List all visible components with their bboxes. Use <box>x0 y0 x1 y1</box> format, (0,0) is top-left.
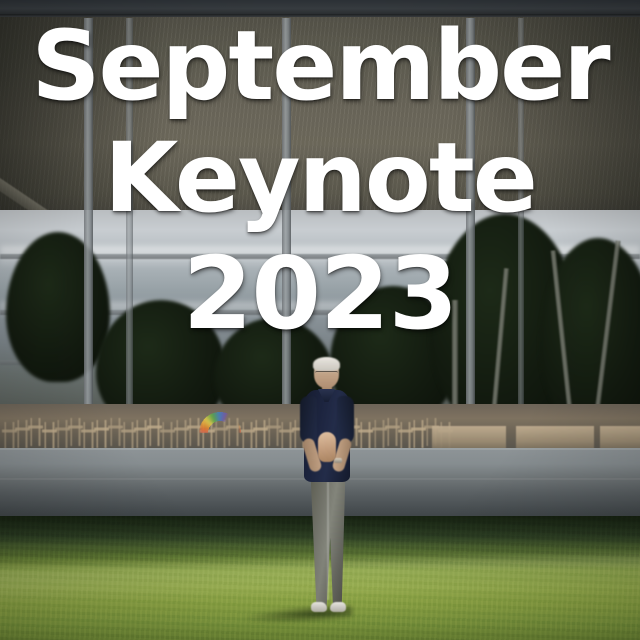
presenter-clasped-hands <box>318 432 336 462</box>
keynote-thumbnail: September Keynote 2023 <box>0 0 640 640</box>
presenter-hair <box>313 357 340 371</box>
presenter-shoe-left <box>311 602 327 612</box>
soffit-shadow-right <box>448 17 640 222</box>
facade-column <box>126 18 133 438</box>
facade-column <box>518 18 524 438</box>
ceiling-soffit <box>0 17 640 222</box>
presenter-watch <box>334 458 342 463</box>
presenter-figure <box>294 358 360 620</box>
presenter-sleeve-right <box>337 396 354 444</box>
facade-column <box>282 18 291 438</box>
presenter-trouser-seam <box>327 482 329 600</box>
presenter-glasses-icon <box>315 371 338 377</box>
background-scene <box>0 0 640 640</box>
facade-column <box>466 18 475 438</box>
facade-column <box>84 18 93 438</box>
presenter-sleeve-left <box>300 396 317 444</box>
presenter-shoe-right <box>330 602 346 612</box>
